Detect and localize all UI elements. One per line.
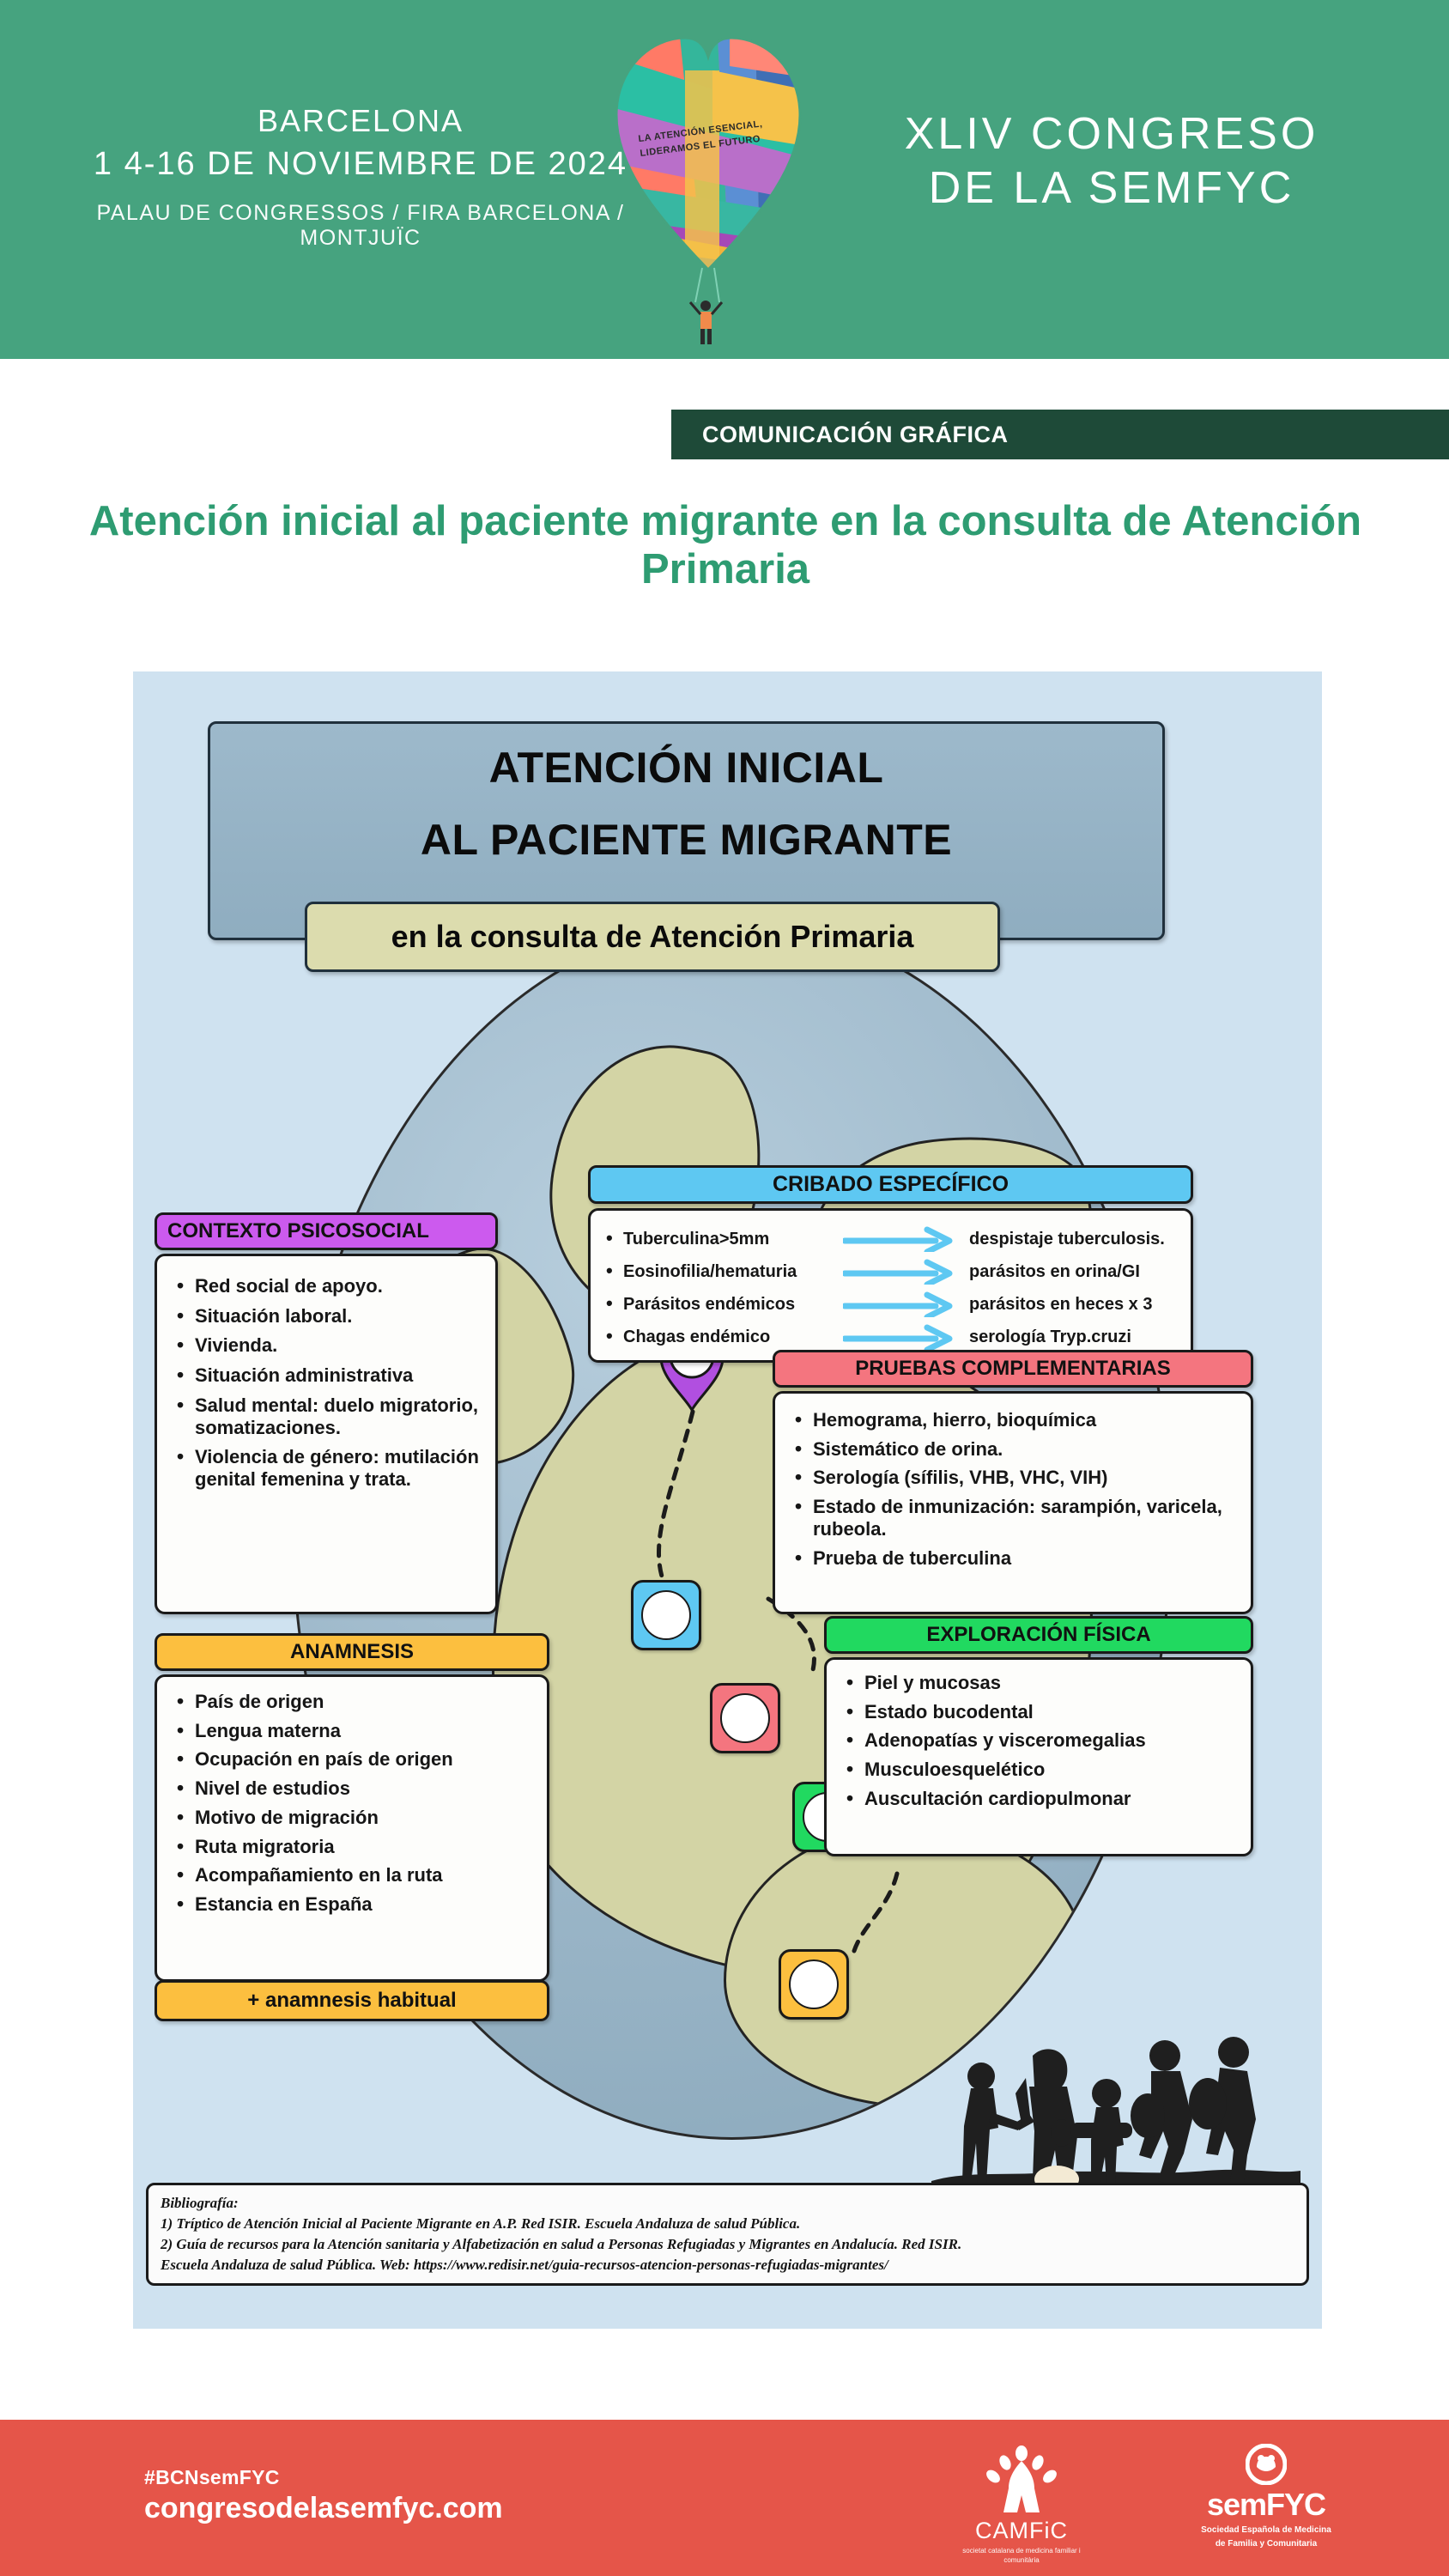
exploracion-card: Piel y mucosas Estado bucodental Adenopa…	[824, 1657, 1253, 1856]
semfyc-logo: semFYC Sociedad Española de Medicina de …	[1176, 2444, 1356, 2549]
list-item: Ruta migratoria	[169, 1836, 537, 1858]
arrow-right-icon	[843, 1226, 959, 1252]
pruebas-card: Hemograma, hierro, bioquímica Sistemátic…	[773, 1391, 1253, 1614]
poster-title-line1: ATENCIÓN INICIAL	[210, 743, 1162, 793]
list-item: Adenopatías y visceromegalias	[839, 1729, 1242, 1752]
cribado-row: Chagas endémico serología Tryp.cruzi	[603, 1321, 1179, 1353]
bibliography-label: Bibliografía:	[161, 2193, 1294, 2214]
contexto-heading: CONTEXTO PSICOSOCIAL	[155, 1212, 498, 1250]
congress-footer: #BCNsemFYC congresodelasemfyc.com CAMFiC…	[0, 2420, 1449, 2576]
cribado-row: Tuberculina>5mm despistaje tuberculosis.	[603, 1223, 1179, 1255]
cribado-result: parásitos en orina/GI	[959, 1262, 1179, 1282]
list-item: Sistemático de orina.	[787, 1438, 1240, 1461]
list-item: Lengua materna	[169, 1720, 537, 1742]
contexto-card: Red social de apoyo. Situación laboral. …	[155, 1254, 498, 1614]
bibliography-entry: 1) Tríptico de Atención Inicial al Pacie…	[161, 2214, 1294, 2234]
arrow-right-icon	[843, 1324, 959, 1350]
list-item: Estancia en España	[169, 1893, 537, 1916]
semfyc-subtitle-line1: Sociedad Española de Medicina	[1176, 2524, 1356, 2537]
footer-hashtag: #BCNsemFYC	[144, 2466, 280, 2489]
list-item: Nivel de estudios	[169, 1777, 537, 1800]
congress-title-line2: DE LA SEMFYC	[846, 161, 1378, 216]
congress-city: BARCELONA	[64, 101, 657, 140]
bibliography-entry: 2) Guía de recursos para la Atención san…	[161, 2234, 1294, 2255]
list-item: Situación laboral.	[169, 1305, 483, 1327]
bibliography-entry: Escuela Andaluza de salud Pública. Web: …	[161, 2255, 1294, 2275]
congress-title: XLIV CONGRESO DE LA SEMFYC	[846, 107, 1378, 216]
cribado-row: Eosinofilia/hematuria parásitos en orina…	[603, 1255, 1179, 1288]
list-item: Vivienda.	[169, 1334, 483, 1357]
marker-dot	[720, 1693, 770, 1743]
exploracion-list: Piel y mucosas Estado bucodental Adenopa…	[839, 1672, 1242, 1810]
list-item: Hemograma, hierro, bioquímica	[787, 1409, 1240, 1431]
arrow-right-icon	[843, 1259, 959, 1285]
list-item: Musculoesquelético	[839, 1759, 1242, 1781]
camfic-name: CAMFiC	[953, 2518, 1090, 2544]
anamnesis-card: País de origen Lengua materna Ocupación …	[155, 1674, 549, 1982]
cribado-result: serología Tryp.cruzi	[959, 1327, 1179, 1347]
people-walking-icon	[931, 2011, 1300, 2200]
pruebas-heading: PRUEBAS COMPLEMENTARIAS	[773, 1350, 1253, 1388]
list-item: Violencia de género: mutilación genital …	[169, 1446, 483, 1490]
cribado-test: Tuberculina>5mm	[603, 1230, 843, 1249]
list-item: Ocupación en país de origen	[169, 1748, 537, 1771]
list-item: Acompañamiento en la ruta	[169, 1864, 537, 1886]
congress-event-info: BARCELONA 1 4-16 DE NOVIEMBRE DE 2024 PA…	[64, 101, 657, 251]
semfyc-subtitle-line2: de Familia y Comunitaria	[1176, 2538, 1356, 2550]
list-item: Salud mental: duelo migratorio, somatiza…	[169, 1394, 483, 1438]
camfic-tree-icon	[974, 2445, 1069, 2516]
list-item: Motivo de migración	[169, 1807, 537, 1829]
infographic-poster: ATENCIÓN INICIAL AL PACIENTE MIGRANTE en…	[133, 671, 1322, 2329]
hot-air-balloon-logo: LA ATENCIÓN ESENCIAL, LIDERAMOS EL FUTUR…	[601, 19, 815, 345]
bibliography-box: Bibliografía: 1) Tríptico de Atención In…	[146, 2183, 1309, 2286]
list-item: Prueba de tuberculina	[787, 1547, 1240, 1570]
list-item: Estado de inmunización: sarampión, varic…	[787, 1496, 1240, 1540]
anamnesis-heading: ANAMNESIS	[155, 1633, 549, 1671]
semfyc-circle-icon	[1246, 2444, 1287, 2485]
congress-title-line1: XLIV CONGRESO	[846, 107, 1378, 161]
poster-subtitle-box: en la consulta de Atención Primaria	[305, 902, 1000, 972]
congress-dates: 1 4-16 DE NOVIEMBRE DE 2024	[64, 143, 657, 185]
person-icon	[690, 301, 722, 344]
badge-label: COMUNICACIÓN GRÁFICA	[702, 422, 1008, 448]
page-title: Atención inicial al paciente migrante en…	[34, 498, 1416, 594]
cribado-card: Tuberculina>5mm despistaje tuberculosis.…	[588, 1208, 1193, 1363]
camfic-subtitle: societat catalana de medicina familiar i…	[953, 2547, 1090, 2566]
congress-header: BARCELONA 1 4-16 DE NOVIEMBRE DE 2024 PA…	[0, 0, 1449, 359]
marker-dot	[641, 1590, 691, 1640]
poster-title-line2: AL PACIENTE MIGRANTE	[210, 815, 1162, 865]
cribado-result: parásitos en heces x 3	[959, 1295, 1179, 1315]
marker-yellow[interactable]	[779, 1949, 849, 2020]
exploracion-heading: EXPLORACIÓN FÍSICA	[824, 1616, 1253, 1654]
list-item: País de origen	[169, 1691, 537, 1713]
list-item: Estado bucodental	[839, 1701, 1242, 1723]
list-item: Red social de apoyo.	[169, 1275, 483, 1297]
footer-url[interactable]: congresodelasemfyc.com	[144, 2492, 503, 2525]
contexto-list: Red social de apoyo. Situación laboral. …	[169, 1275, 483, 1491]
balloon-icon	[601, 19, 815, 345]
cribado-test: Chagas endémico	[603, 1327, 843, 1347]
marker-dot	[789, 1959, 839, 2009]
anamnesis-footer: + anamnesis habitual	[155, 1980, 549, 2021]
camfic-logo: CAMFiC societat catalana de medicina fam…	[953, 2445, 1090, 2566]
cribado-result: despistaje tuberculosis.	[959, 1230, 1179, 1249]
migrant-silhouettes	[931, 2011, 1300, 2200]
semfyc-name: semFYC	[1176, 2487, 1356, 2523]
cribado-test: Parásitos endémicos	[603, 1295, 843, 1315]
cribado-heading: CRIBADO ESPECÍFICO	[588, 1165, 1193, 1204]
anamnesis-list: País de origen Lengua materna Ocupación …	[169, 1691, 537, 1916]
list-item: Piel y mucosas	[839, 1672, 1242, 1694]
cribado-test: Eosinofilia/hematuria	[603, 1262, 843, 1282]
congress-venue: PALAU DE CONGRESSOS / FIRA BARCELONA / M…	[64, 201, 657, 251]
list-item: Auscultación cardiopulmonar	[839, 1788, 1242, 1810]
cribado-row: Parásitos endémicos parásitos en heces x…	[603, 1288, 1179, 1321]
list-item: Situación administrativa	[169, 1364, 483, 1387]
marker-red[interactable]	[710, 1683, 780, 1753]
arrow-right-icon	[843, 1291, 959, 1317]
list-item: Serología (sífilis, VHB, VHC, VIH)	[787, 1467, 1240, 1489]
pruebas-list: Hemograma, hierro, bioquímica Sistemátic…	[787, 1409, 1240, 1569]
communication-type-badge: COMUNICACIÓN GRÁFICA	[671, 410, 1449, 459]
marker-blue[interactable]	[631, 1580, 701, 1650]
